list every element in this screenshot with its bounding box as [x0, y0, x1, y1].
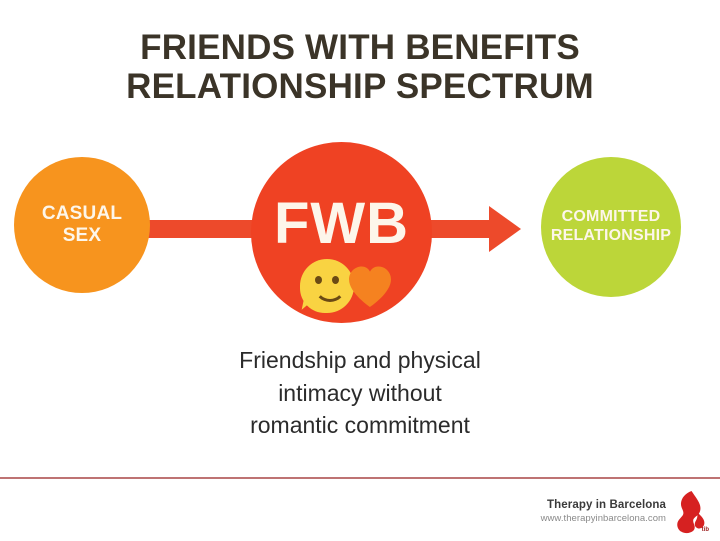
footer-website-url[interactable]: www.therapyinbarcelona.com [541, 513, 666, 526]
caption-line-1: Friendship and physical [110, 344, 610, 377]
caption-line-2: intimacy without [110, 377, 610, 410]
smiley-eye-right [332, 276, 339, 284]
logo-tib-text: tib [702, 527, 709, 533]
spectrum-node-committed-relationship[interactable]: COMMITTED RELATIONSHIP [541, 157, 681, 297]
committed-label-line-2: RELATIONSHIP [551, 227, 671, 244]
infographic-canvas: FRIENDS WITH BENEFITS RELATIONSHIP SPECT… [0, 0, 720, 541]
emoji-cluster [300, 259, 396, 319]
spectrum-node-casual-sex-label: CASUAL SEX [42, 203, 122, 248]
casual-sex-label-line-2: SEX [63, 225, 102, 246]
relationship-spectrum-diagram: CASUAL SEX FWB COMMITTED RELATIONSHIP [0, 0, 720, 340]
therapy-in-barcelona-logo[interactable]: tib [674, 490, 708, 534]
footer-divider [0, 477, 720, 479]
footer: Therapy in Barcelona www.therapyinbarcel… [541, 490, 708, 534]
fwb-definition-caption: Friendship and physical intimacy without… [110, 344, 610, 442]
smiley-mouth [314, 285, 346, 302]
spectrum-node-committed-relationship-label: COMMITTED RELATIONSHIP [551, 208, 671, 246]
arrow-right-icon [489, 206, 521, 252]
heart-icon [346, 263, 394, 311]
spectrum-node-casual-sex[interactable]: CASUAL SEX [14, 157, 150, 293]
casual-sex-label-line-1: CASUAL [42, 203, 122, 224]
committed-label-line-1: COMMITTED [562, 208, 661, 225]
smiley-eye-left [315, 276, 322, 284]
connector-bar-casual-to-fwb [140, 220, 265, 238]
caption-line-3: romantic commitment [110, 409, 610, 442]
footer-text-block: Therapy in Barcelona www.therapyinbarcel… [541, 498, 666, 526]
spectrum-node-fwb-label: FWB [274, 190, 409, 258]
footer-brand-name: Therapy in Barcelona [541, 498, 666, 514]
